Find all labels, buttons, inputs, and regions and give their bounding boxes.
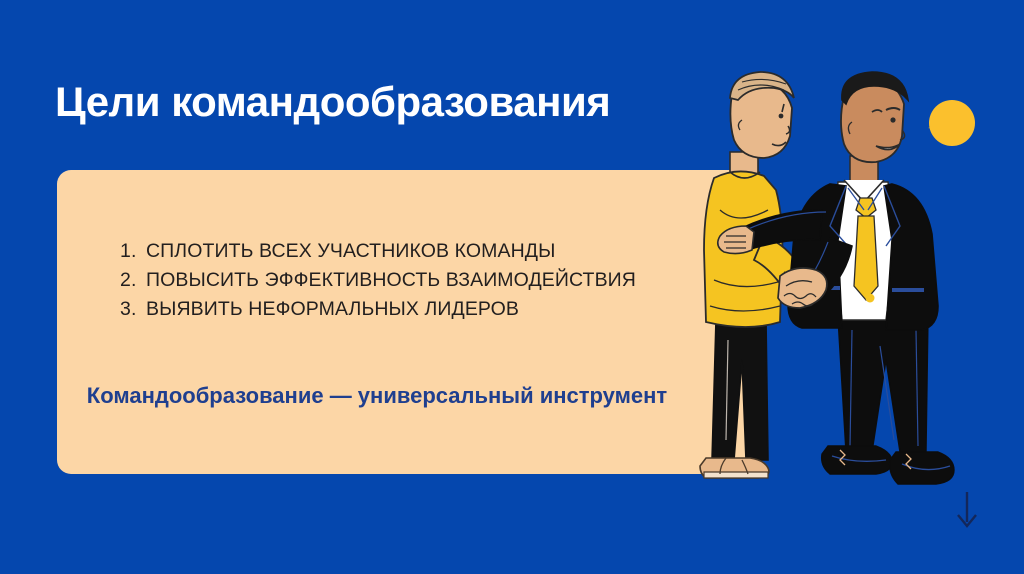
list-item: 1. СПЛОТИТЬ ВСЕХ УЧАСТНИКОВ КОМАНДЫ xyxy=(120,237,636,266)
list-item-label: ВЫЯВИТЬ НЕФОРМАЛЬНЫХ ЛИДЕРОВ xyxy=(146,295,519,324)
list-item-label: СПЛОТИТЬ ВСЕХ УЧАСТНИКОВ КОМАНДЫ xyxy=(146,237,555,266)
down-arrow xyxy=(950,488,986,532)
list-item: 2. ПОВЫСИТЬ ЭФФЕКТИВНОСТЬ ВЗАИМОДЕЙСТВИЯ xyxy=(120,266,636,295)
list-item-label: ПОВЫСИТЬ ЭФФЕКТИВНОСТЬ ВЗАИМОДЕЙСТВИЯ xyxy=(146,266,636,295)
list-item-number: 3. xyxy=(120,295,146,324)
list-item: 3. ВЫЯВИТЬ НЕФОРМАЛЬНЫХ ЛИДЕРОВ xyxy=(120,295,636,324)
tagline-text: Командообразование — универсальный инстр… xyxy=(57,380,697,411)
list-item-number: 2. xyxy=(120,266,146,295)
goals-list: 1. СПЛОТИТЬ ВСЕХ УЧАСТНИКОВ КОМАНДЫ 2. П… xyxy=(120,237,636,324)
two-businessmen-handshake-illustration xyxy=(680,60,1024,520)
list-item-number: 1. xyxy=(120,237,146,266)
page-title: Цели командообразования xyxy=(55,78,610,126)
speech-bubble xyxy=(928,100,975,146)
presentation-slide: Цели командообразования 1. СПЛОТИТЬ ВСЕХ… xyxy=(0,0,1024,574)
